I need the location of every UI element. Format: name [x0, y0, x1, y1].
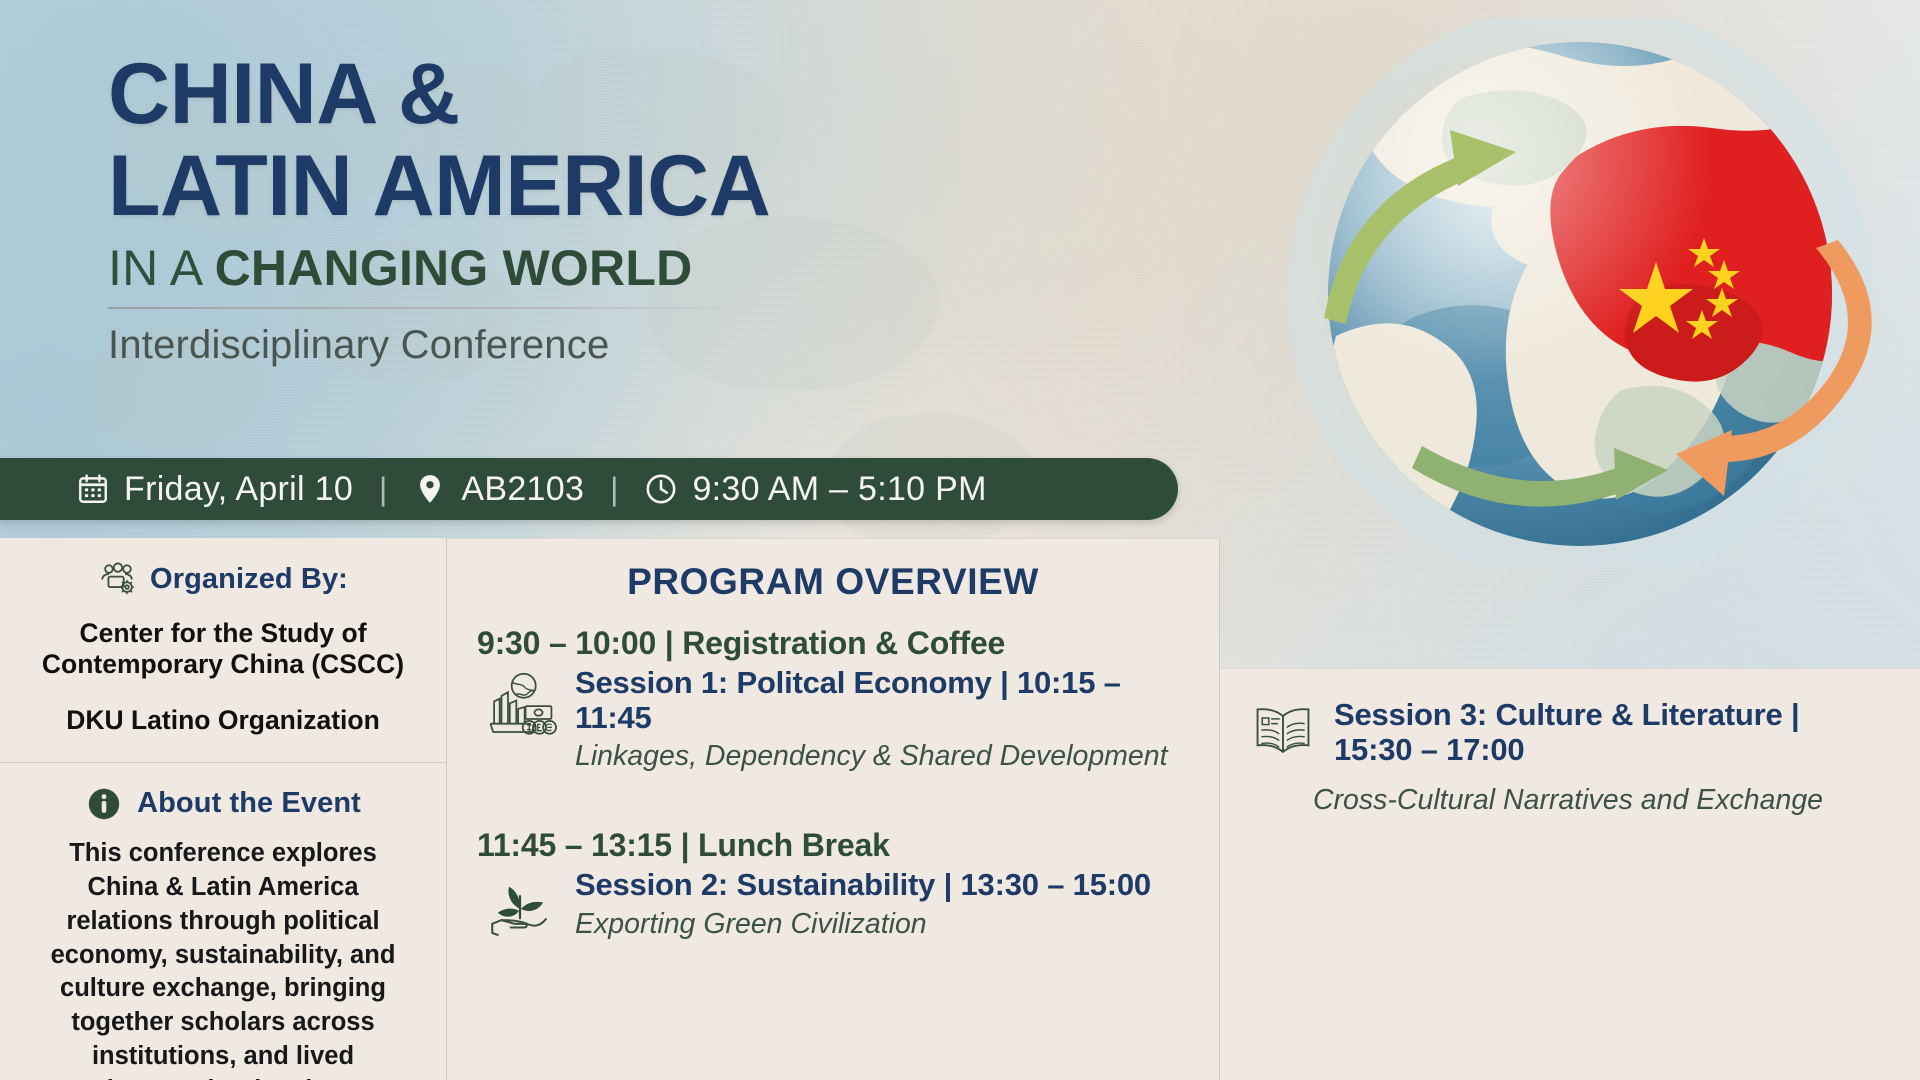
about-body: This conference explores China & Latin A…: [22, 837, 424, 1080]
event-time: 9:30 AM – 5:10 PM: [644, 470, 986, 509]
session-1-title: Session 1: Politcal Economy | 10:15 – 11…: [575, 666, 1189, 735]
header-divider: [108, 307, 748, 309]
globe-artwork: [1262, 18, 1902, 566]
title-line-3-prefix: IN A: [108, 240, 215, 296]
poster-header: CHINA & LATIN AMERICA IN A CHANGING WORL…: [108, 52, 1218, 368]
subtitle: Interdisciplinary Conference: [108, 323, 1218, 368]
info-separator-1: |: [379, 471, 387, 508]
people-gear-icon: [98, 560, 136, 598]
event-info-bar: Friday, April 10 | AB2103 |: [0, 458, 1178, 520]
event-time-text: 9:30 AM – 5:10 PM: [692, 470, 986, 509]
economy-globe-money-icon: [483, 670, 557, 744]
program-overview-panel: PROGRAM OVERVIEW 9:30 – 10:00 | Registra…: [447, 538, 1220, 1080]
title-line-2: LATIN AMERICA: [108, 144, 1218, 228]
title-line-3: IN A CHANGING WORLD: [108, 243, 1218, 293]
session-3-panel: Session 3: Culture & Literature | 15:30 …: [1220, 668, 1920, 1080]
organized-by-section: Organized By: Center for the Study of Co…: [0, 538, 446, 746]
session-3-subtitle: Cross-Cultural Narratives and Exchange: [1250, 784, 1886, 817]
session-2-subtitle: Exporting Green Civilization: [575, 908, 1189, 941]
program-break-lunch: 11:45 – 13:15 | Lunch Break: [477, 827, 1189, 864]
title-ampersand: &: [398, 46, 460, 142]
program-session-2: Session 2: Sustainability | 13:30 – 15:0…: [483, 868, 1189, 946]
program-overview-title: PROGRAM OVERVIEW: [477, 561, 1189, 603]
map-pin-icon: [413, 472, 447, 506]
session-2-title: Session 2: Sustainability | 13:30 – 15:0…: [575, 868, 1189, 903]
organizer-1-line-2: Contemporary China (CSCC): [22, 649, 424, 680]
event-location-text: AB2103: [461, 470, 584, 509]
event-location: AB2103: [413, 470, 584, 509]
event-date-text: Friday, April 10: [124, 470, 353, 509]
clock-icon: [644, 472, 678, 506]
title-line-1-text: CHINA: [108, 46, 375, 142]
calendar-icon: [76, 472, 110, 506]
program-session-1: Session 1: Politcal Economy | 10:15 – 11…: [483, 666, 1189, 773]
program-spacer: [477, 773, 1189, 827]
event-date: Friday, April 10: [76, 470, 353, 509]
info-separator-2: |: [610, 471, 618, 508]
session-1-subtitle: Linkages, Dependency & Shared Developmen…: [575, 740, 1189, 773]
title-line-3-bold: CHANGING WORLD: [215, 240, 693, 296]
hand-plant-icon: [483, 872, 557, 946]
sidebar: Organized By: Center for the Study of Co…: [0, 538, 447, 1080]
info-icon: [85, 785, 123, 823]
about-heading: About the Event: [22, 785, 424, 823]
title-line-1: CHINA &: [108, 52, 1218, 136]
organizer-2: DKU Latino Organization: [22, 705, 424, 736]
organized-by-heading: Organized By:: [22, 560, 424, 598]
organizer-1: Center for the Study of Contemporary Chi…: [22, 618, 424, 681]
session-3-title: Session 3: Culture & Literature | 15:30 …: [1334, 697, 1886, 768]
about-label: About the Event: [137, 787, 361, 820]
organizer-1-line-1: Center for the Study of: [22, 618, 424, 649]
open-book-icon: [1250, 701, 1316, 767]
about-section: About the Event This conference explores…: [0, 763, 446, 1080]
organized-by-label: Organized By:: [150, 563, 348, 596]
program-break-registration: 9:30 – 10:00 | Registration & Coffee: [477, 625, 1189, 662]
conference-poster: CHINA & LATIN AMERICA IN A CHANGING WORL…: [0, 0, 1920, 1080]
